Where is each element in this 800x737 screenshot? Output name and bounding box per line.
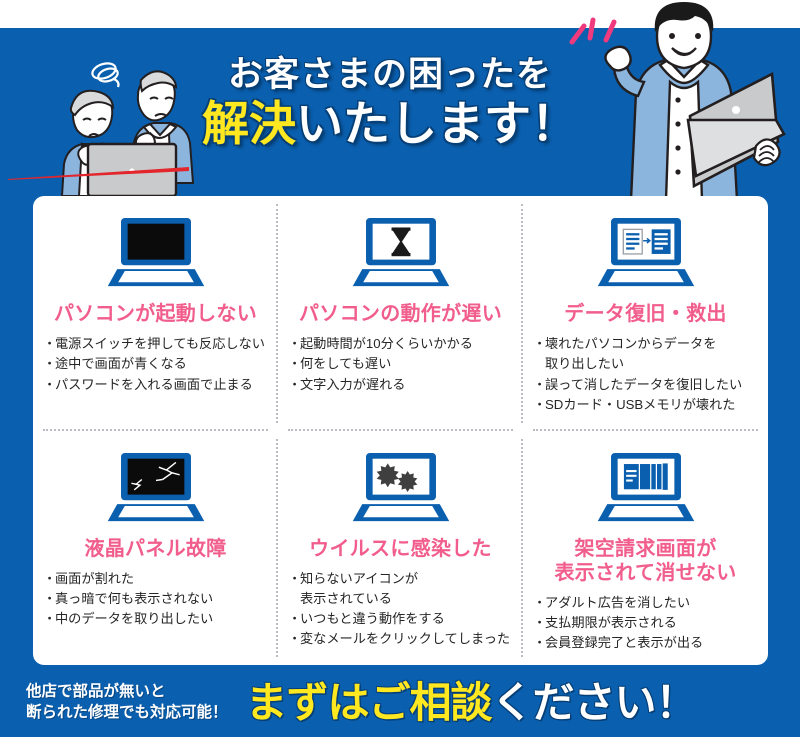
problem-title: 架空請求画面が 表示されて消せない bbox=[554, 537, 736, 586]
problem-bullets: アダルト広告を消したい 支払期限が表示される 会員登録完了と表示が出る bbox=[535, 593, 756, 653]
headline-line-1: お客さまの困ったを bbox=[190, 56, 590, 95]
hero-headline: お客さまの困ったを 解決いたします！ bbox=[190, 56, 590, 148]
list-item: 会員登録完了と表示が出る bbox=[535, 633, 756, 653]
problem-bullets: 電源スイッチを押しても反応しない 途中で画面が青くなる パスワードを入れる画面で… bbox=[45, 334, 266, 394]
footer-call-to-action[interactable]: まずはご相談ください！ bbox=[246, 682, 697, 724]
worried-elderly-couple-illustration bbox=[38, 44, 208, 196]
problem-title: パソコンが起動しない bbox=[54, 302, 257, 326]
document-source-glyph bbox=[623, 229, 642, 254]
list-item: 起動時間が10分くらいかかる bbox=[290, 334, 511, 354]
laptop-hourglass-icon bbox=[349, 210, 453, 296]
headline-line-2: 解決いたします！ bbox=[190, 99, 590, 148]
list-item: アダルト広告を消したい bbox=[535, 593, 756, 613]
list-item: 電源スイッチを押しても反応しない bbox=[45, 334, 266, 354]
problem-cell-2[interactable]: パソコンの動作が遅い 起動時間が10分くらいかかる 何をしても遅い 文字入力が遅… bbox=[278, 196, 523, 431]
problem-title: パソコンの動作が遅い bbox=[299, 302, 502, 326]
list-item: 知らないアイコンが 表示されている bbox=[290, 569, 511, 609]
pink-emphasis-lines-icon bbox=[572, 20, 614, 42]
problem-cell-1[interactable]: パソコンが起動しない 電源スイッチを押しても反応しない 途中で画面が青くなる パ… bbox=[33, 196, 278, 431]
list-item: パスワードを入れる画面で止まる bbox=[45, 375, 266, 395]
list-item: 真っ暗で何も表示されない bbox=[45, 589, 266, 609]
list-item: 途中で画面が青くなる bbox=[45, 354, 266, 374]
poster-root: お客さまの困ったを 解決いたします！ パソコンが起動しない 電源ス bbox=[0, 0, 800, 737]
laptop-popup-windows-icon bbox=[594, 445, 698, 531]
headline-rest-word: いたします！ bbox=[296, 97, 578, 150]
problem-card-panel: パソコンが起動しない 電源スイッチを押しても反応しない 途中で画面が青くなる パ… bbox=[33, 196, 768, 665]
problem-bullets: 知らないアイコンが 表示されている いつもと違う動作をする 変なメールをクリック… bbox=[290, 569, 511, 649]
problem-bullets: 起動時間が10分くらいかかる 何をしても遅い 文字入力が遅れる bbox=[290, 334, 511, 394]
list-item: 支払期限が表示される bbox=[535, 613, 756, 633]
problem-cell-4[interactable]: 液晶パネル故障 画面が割れた 真っ暗で何も表示されない 中のデータを取り出したい bbox=[33, 431, 278, 666]
list-item: 文字入力が遅れる bbox=[290, 375, 511, 395]
list-item: 壊れたパソコンからデータを 取り出したい bbox=[535, 334, 756, 374]
footer-rest-text: ください！ bbox=[492, 679, 697, 726]
smiling-technician-illustration bbox=[560, 0, 800, 200]
laptop-document-copy-icon bbox=[594, 210, 698, 296]
list-item: いつもと違う動作をする bbox=[290, 609, 511, 629]
list-item: 画面が割れた bbox=[45, 569, 266, 589]
list-item: 何をしても遅い bbox=[290, 354, 511, 374]
laptop-black-screen-icon bbox=[104, 210, 208, 296]
stacked-popup-windows bbox=[623, 463, 667, 489]
problem-title: 液晶パネル故障 bbox=[84, 537, 226, 561]
problem-cell-6[interactable]: 架空請求画面が 表示されて消せない アダルト広告を消したい 支払期限が表示される… bbox=[523, 431, 768, 666]
squiggle-worry-mark-icon bbox=[90, 61, 119, 87]
list-item: 変なメールをクリックしてしまった bbox=[290, 629, 511, 649]
laptop-illustration bbox=[88, 144, 176, 196]
problem-title: データ復旧・救出 bbox=[564, 302, 726, 326]
document-target-glyph bbox=[651, 229, 670, 254]
list-item: 誤って消したデータを復旧したい bbox=[535, 375, 756, 395]
problem-title: ウイルスに感染した bbox=[309, 537, 492, 561]
list-item: SDカード・USBメモリが壊れた bbox=[535, 395, 756, 415]
headline-accent-word: 解決 bbox=[202, 97, 296, 150]
footer-accent-text: まずはご相談 bbox=[246, 679, 492, 726]
footer-cta: 他店で部品が無いと 断られた修理でも対応可能！ まずはご相談ください！ bbox=[0, 668, 800, 737]
problem-bullets: 壊れたパソコンからデータを 取り出したい 誤って消したデータを復旧したい SDカ… bbox=[535, 334, 756, 414]
laptop-virus-icon bbox=[349, 445, 453, 531]
footer-note: 他店で部品が無いと 断られた修理でも対応可能！ bbox=[26, 682, 228, 723]
laptop-cracked-screen-icon bbox=[104, 445, 208, 531]
problem-cell-3[interactable]: データ復旧・救出 壊れたパソコンからデータを 取り出したい 誤って消したデータを… bbox=[523, 196, 768, 431]
problem-cell-5[interactable]: ウイルスに感染した 知らないアイコンが 表示されている いつもと違う動作をする … bbox=[278, 431, 523, 666]
list-item: 中のデータを取り出したい bbox=[45, 609, 266, 629]
problem-bullets: 画面が割れた 真っ暗で何も表示されない 中のデータを取り出したい bbox=[45, 569, 266, 629]
